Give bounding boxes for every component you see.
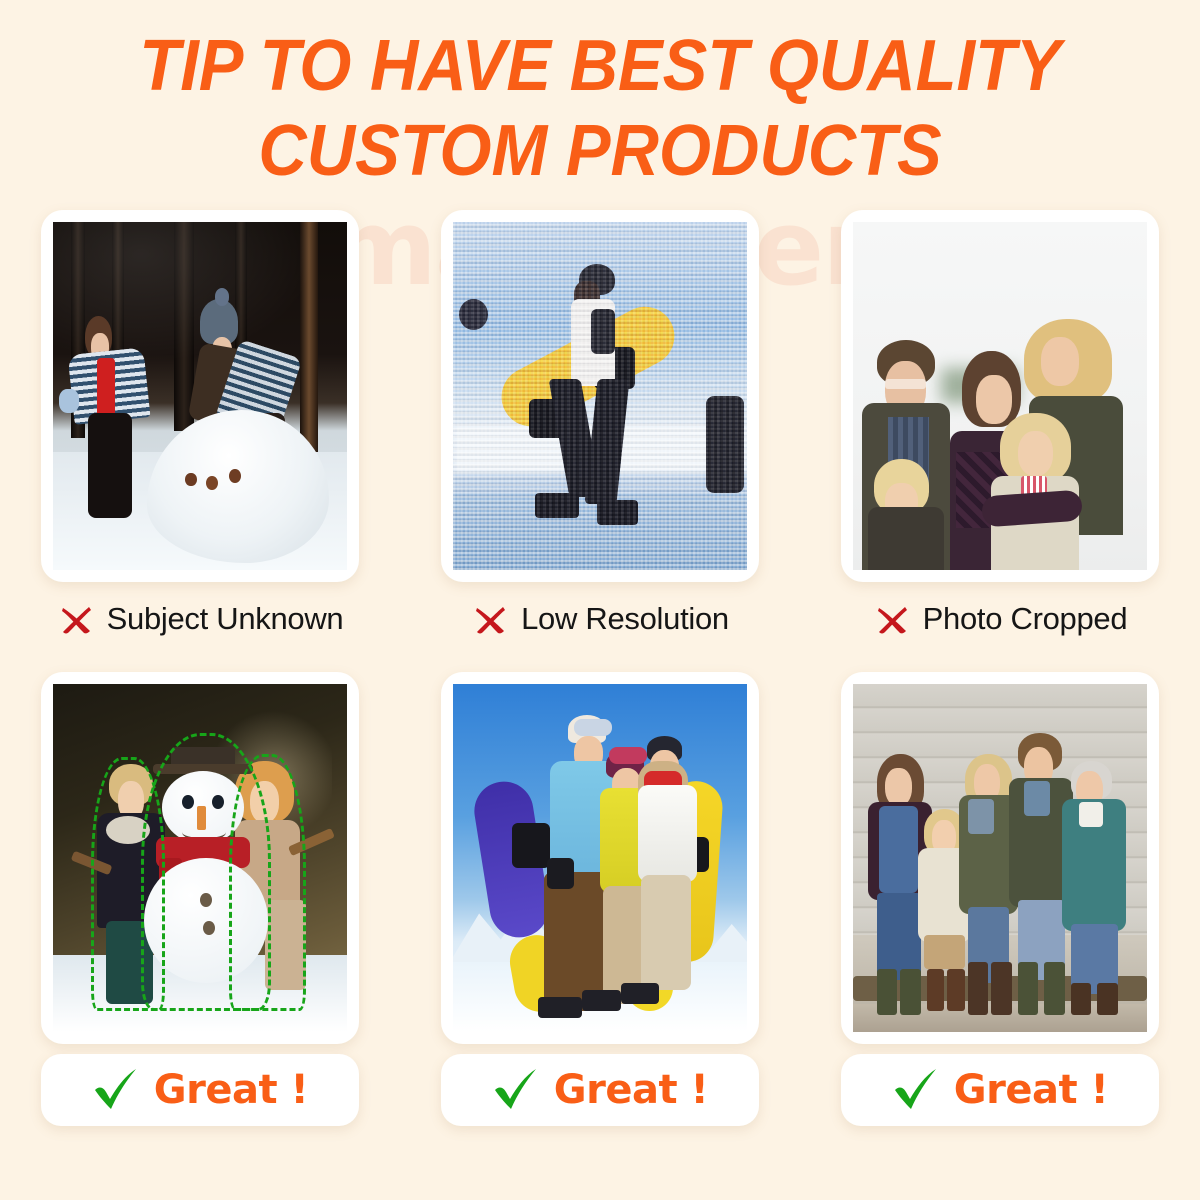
tip-cell-photo-cropped: Photo Cropped (800, 210, 1200, 672)
photo-card-subject-unknown (41, 210, 359, 582)
photo-snowman-with-outline (53, 684, 347, 1032)
label-text: Photo Cropped (923, 601, 1128, 637)
check-icon (892, 1068, 940, 1112)
selection-outline-right (229, 754, 305, 1012)
label-subject-unknown: Subject Unknown (57, 596, 344, 642)
cross-icon (471, 600, 509, 638)
status-label: Great ! (954, 1067, 1108, 1113)
check-icon (492, 1068, 540, 1112)
tip-cell-great-snowman: Great ! (0, 672, 400, 1150)
label-text: Subject Unknown (107, 601, 344, 637)
cross-icon (57, 600, 95, 638)
tip-cell-great-family: Great ! (800, 672, 1200, 1150)
page-title-line-2: CUSTOM PRODUCTS (42, 109, 1158, 194)
check-icon (92, 1068, 140, 1112)
photo-family-at-barn-wall (853, 684, 1147, 1032)
status-card-great-family: Great ! (841, 1054, 1159, 1126)
tip-cell-subject-unknown: Subject Unknown (0, 210, 400, 672)
tips-grid: Subject Unknown (0, 210, 1200, 1150)
photo-card-low-resolution (441, 210, 759, 582)
photo-family-cropped (853, 222, 1147, 570)
status-label: Great ! (154, 1067, 308, 1113)
status-card-great-snowman: Great ! (41, 1054, 359, 1126)
photo-three-snowboarders (453, 684, 747, 1032)
page-title-line-1: TIP TO HAVE BEST QUALITY (42, 24, 1158, 109)
photo-card-photo-cropped (841, 210, 1159, 582)
page-title: TIP TO HAVE BEST QUALITY CUSTOM PRODUCTS (42, 24, 1158, 194)
status-label: Great ! (554, 1067, 708, 1113)
tip-cell-low-resolution: Low Resolution (400, 210, 800, 672)
photo-card-great-snowboarders (441, 672, 759, 1044)
photo-card-great-family (841, 672, 1159, 1044)
cross-icon (873, 600, 911, 638)
photo-two-women-building-snowman (53, 222, 347, 570)
label-low-resolution: Low Resolution (471, 596, 729, 642)
label-text: Low Resolution (521, 601, 729, 637)
label-photo-cropped: Photo Cropped (873, 596, 1128, 642)
photo-card-great-snowman (41, 672, 359, 1044)
tip-cell-great-snowboarders: Great ! (400, 672, 800, 1150)
photo-pixelated-snowboarder (453, 222, 747, 570)
status-card-great-snowboarders: Great ! (441, 1054, 759, 1126)
